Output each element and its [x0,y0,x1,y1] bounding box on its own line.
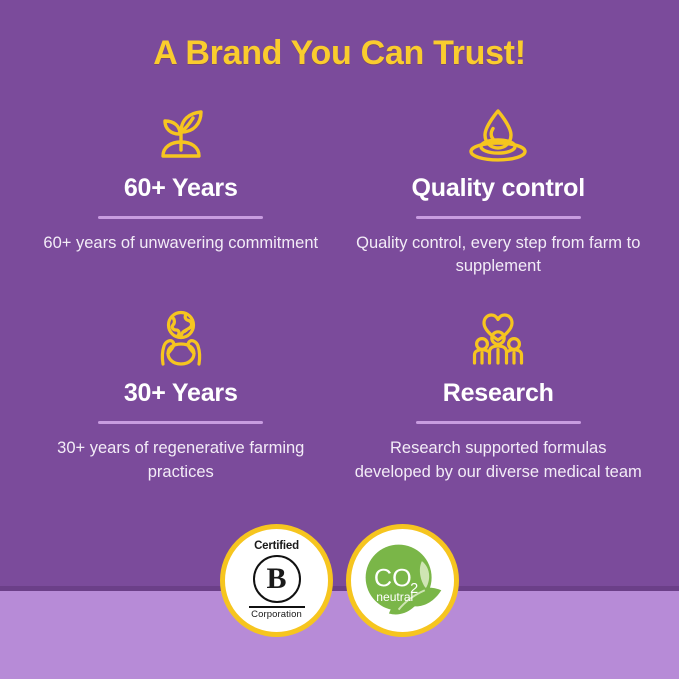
b-corp-underline [249,606,305,609]
feature-item-quality-control: Quality control Quality control, every s… [340,104,658,279]
feature-description: Quality control, every step from farm to… [354,232,644,280]
co2-neutral-mark: CO 2 neutral [354,532,451,629]
people-heart-icon [354,309,644,369]
feature-description: 30+ years of regenerative farming practi… [36,437,326,485]
feature-divider [416,216,581,219]
feature-item-research: Research Research supported formulas dev… [340,309,658,484]
feature-title: 60+ Years [36,175,326,203]
feature-item-30-years: 30+ Years 30+ years of regenerative farm… [22,309,340,484]
feature-divider [98,421,263,424]
certification-badges: Certified B Corporation CO 2 neutral [0,524,679,637]
water-droplet-icon [354,104,644,164]
feature-description: Research supported formulas developed by… [354,437,644,485]
feature-description: 60+ years of unwavering commitment [36,232,326,256]
feature-divider [416,421,581,424]
hands-holding-globe-icon [36,309,326,369]
feature-title: 30+ Years [36,380,326,408]
promo-graphic: A Brand You Can Trust! 60+ Years 60+ yea… [0,0,679,679]
co2-text: CO [374,564,412,592]
sprout-icon [36,104,326,164]
b-corp-mark: Certified B Corporation [225,529,328,632]
b-corp-letter: B [253,555,301,603]
feature-item-60-years: 60+ Years 60+ years of unwavering commit… [22,104,340,279]
co2-neutral-badge: CO 2 neutral [346,524,459,637]
feature-divider [98,216,263,219]
b-corp-certified-label: Certified [254,541,299,553]
page-title: A Brand You Can Trust! [0,36,679,70]
feature-title: Research [354,380,644,408]
co2-neutral-text: neutral [376,590,413,604]
b-corp-badge: Certified B Corporation [220,524,333,637]
feature-title: Quality control [354,175,644,203]
feature-grid: 60+ Years 60+ years of unwavering commit… [22,104,657,485]
b-corp-corporation-label: Corporation [251,610,302,620]
